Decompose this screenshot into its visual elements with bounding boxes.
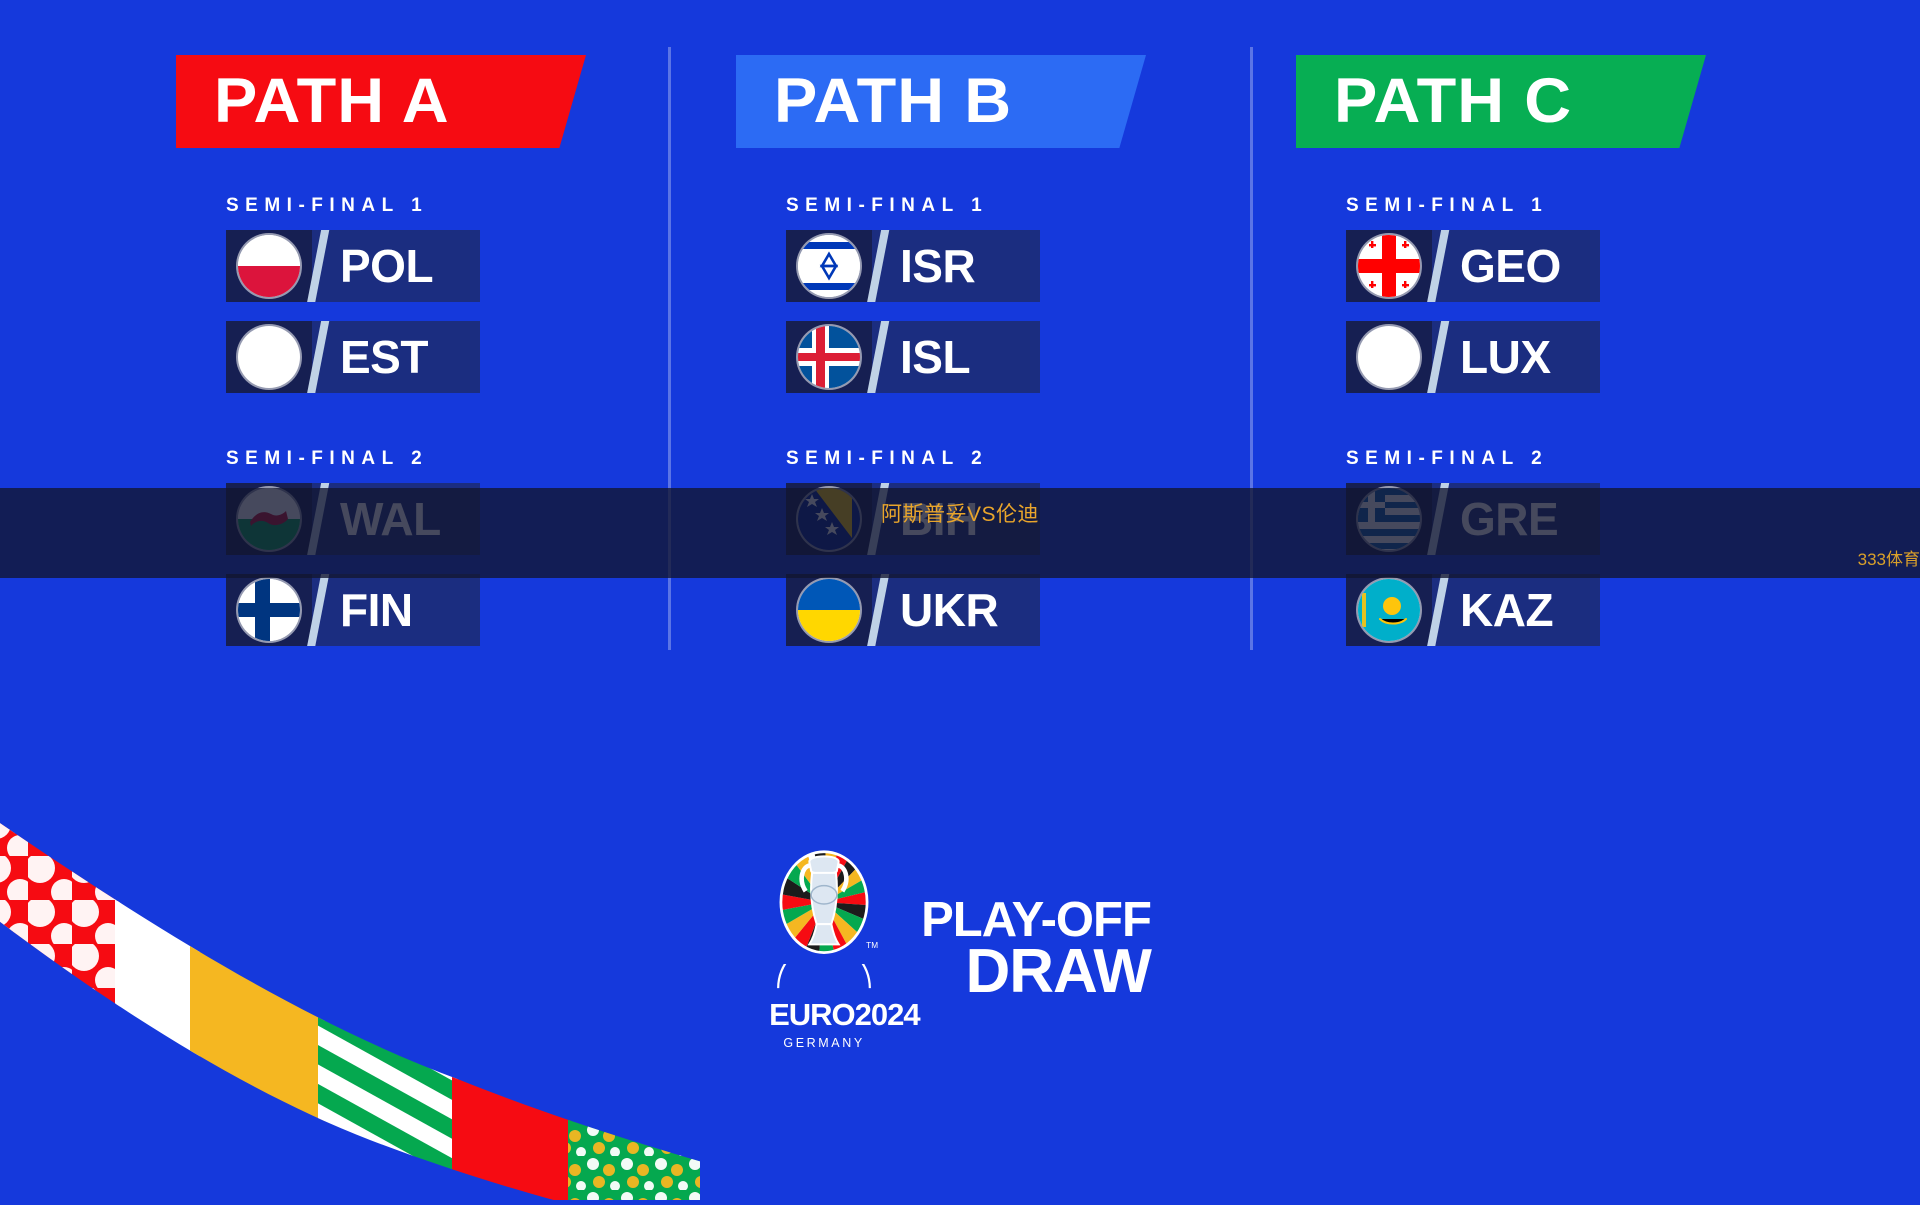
finland-flag — [238, 579, 300, 641]
team-row-lux[interactable]: LUX — [1346, 321, 1600, 393]
team-code: EST — [340, 334, 428, 380]
iceland-flag — [798, 326, 860, 388]
path-b-banner: PATH B — [736, 55, 1146, 148]
team-code: KAZ — [1460, 587, 1553, 633]
team-row-isr[interactable]: ISR — [786, 230, 1040, 302]
team-code: GEO — [1460, 243, 1561, 289]
playoff-draw-title: PLAY-OFF DRAW — [921, 898, 1151, 1001]
euro-trophy-icon: TM — [769, 849, 879, 959]
flag-cell — [226, 574, 312, 646]
path-c-semifinal-2-title: SEMI-FINAL 2 — [1346, 448, 1800, 470]
estonia-flag — [238, 326, 300, 388]
team-row-pol[interactable]: POL — [226, 230, 480, 302]
kazakhstan-flag — [1358, 579, 1420, 641]
euro-2024-logo: TM UEFA EURO2024 GERMANY — [769, 849, 879, 1050]
team-row-kaz[interactable]: KAZ — [1346, 574, 1600, 646]
ukraine-flag — [798, 579, 860, 641]
path-c-label: PATH C — [1334, 70, 1572, 133]
team-code: POL — [340, 243, 433, 289]
team-code: FIN — [340, 587, 413, 633]
path-a-banner: PATH A — [176, 55, 586, 148]
team-code: LUX — [1460, 334, 1551, 380]
poland-flag — [238, 235, 300, 297]
euro-host-country: GERMANY — [769, 1036, 879, 1050]
flag-cell — [226, 321, 312, 393]
stream-overlay-caption: 阿斯普妥VS伦迪 — [881, 498, 1039, 528]
svg-text:TM: TM — [866, 941, 878, 950]
flag-cell — [786, 321, 872, 393]
uefa-arc-wordmark: UEFA — [769, 964, 879, 997]
israel-flag — [798, 235, 860, 297]
path-a-label: PATH A — [214, 70, 450, 133]
team-row-ukr[interactable]: UKR — [786, 574, 1040, 646]
euro-2024-wordmark: EURO2024 — [769, 999, 879, 1030]
flag-cell — [786, 230, 872, 302]
georgia-flag — [1358, 235, 1420, 297]
team-row-isl[interactable]: ISL — [786, 321, 1040, 393]
flag-cell — [1346, 574, 1432, 646]
luxembourg-flag — [1358, 326, 1420, 388]
flag-cell — [1346, 321, 1432, 393]
flag-cell — [786, 574, 872, 646]
path-b-semifinal-2-title: SEMI-FINAL 2 — [786, 448, 1240, 470]
path-c-semifinal-1-title: SEMI-FINAL 1 — [1346, 195, 1800, 217]
path-b-label: PATH B — [774, 70, 1012, 133]
path-a-semifinal-1-title: SEMI-FINAL 1 — [226, 195, 680, 217]
team-row-fin[interactable]: FIN — [226, 574, 480, 646]
team-row-geo[interactable]: GEO — [1346, 230, 1600, 302]
path-a-semifinal-2-title: SEMI-FINAL 2 — [226, 448, 680, 470]
team-code: UKR — [900, 587, 998, 633]
footer-branding: TM UEFA EURO2024 GERMANY PLAY-OFF DRAW — [0, 849, 1920, 1050]
flag-cell — [226, 230, 312, 302]
playoff-title-line2: DRAW — [921, 943, 1151, 1001]
team-row-est[interactable]: EST — [226, 321, 480, 393]
team-code: ISR — [900, 243, 975, 289]
team-code: ISL — [900, 334, 970, 380]
path-c-banner: PATH C — [1296, 55, 1706, 148]
path-b-semifinal-1-title: SEMI-FINAL 1 — [786, 195, 1240, 217]
stream-watermark: 333体育 — [1858, 545, 1920, 570]
flag-cell — [1346, 230, 1432, 302]
